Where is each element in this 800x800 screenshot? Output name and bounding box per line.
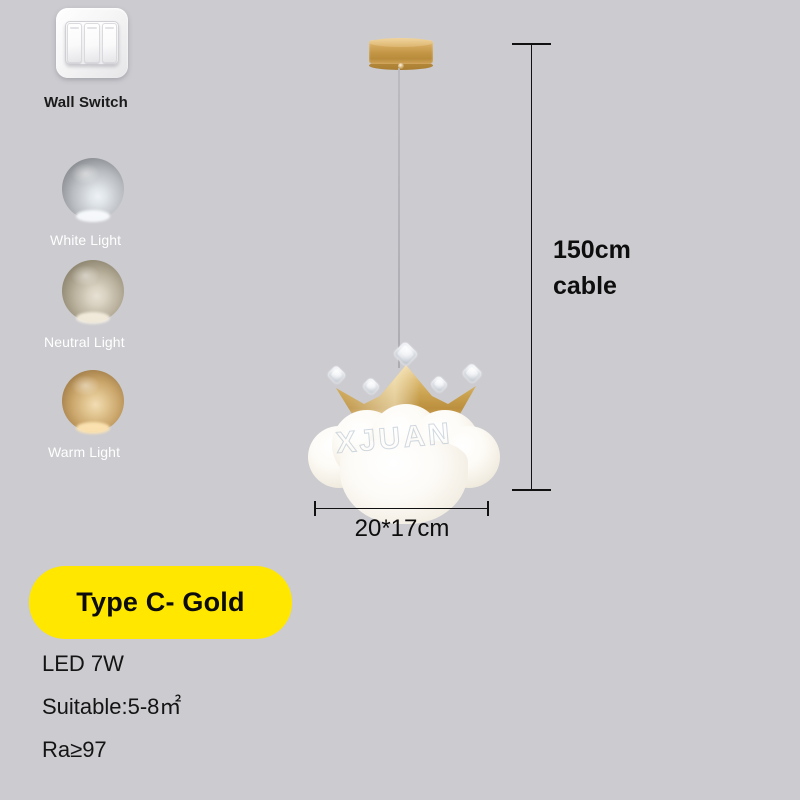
sphere-icon: [62, 370, 124, 432]
sphere-glow: [76, 312, 111, 324]
wall-switch-rocker: [102, 23, 117, 63]
light-color-label-white: White Light: [50, 232, 214, 248]
wall-switch-rocker-panel: [65, 21, 119, 65]
suspension-cable: [398, 68, 400, 368]
cable-dimension-value: 150cm: [553, 233, 703, 269]
spec-line-suitable-area: Suitable:5-8㎡: [42, 696, 372, 718]
wall-switch-rocker: [84, 23, 99, 63]
light-color-option-white: White Light: [44, 158, 214, 248]
cable-dimension-tick-bottom: [512, 489, 551, 491]
wall-switch-rocker: [67, 23, 82, 63]
shade-base: [340, 440, 468, 524]
sphere-icon: [62, 260, 124, 322]
wall-switch-group: Wall Switch: [44, 8, 214, 111]
spec-line-cri: Ra≥97: [42, 739, 372, 761]
ceiling-canopy: [369, 38, 433, 66]
spec-list: LED 7W Suitable:5-8㎡ Ra≥97: [42, 653, 372, 782]
cable-dimension-label: 150cm cable: [553, 233, 703, 304]
canopy-top: [369, 38, 433, 47]
light-color-label-neutral: Neutral Light: [44, 334, 214, 350]
type-badge-label: Type C- Gold: [76, 587, 244, 618]
sphere-glow: [76, 422, 111, 434]
cable-dimension-unit: cable: [553, 269, 703, 305]
light-color-option-neutral: Neutral Light: [44, 260, 214, 350]
spec-line-wattage: LED 7W: [42, 653, 372, 675]
sphere-glow: [76, 210, 111, 222]
shade-dimension-line: [314, 508, 488, 509]
wall-switch-icon: [56, 8, 128, 78]
cable-dimension-line: [531, 44, 532, 490]
canopy-screw: [398, 63, 404, 69]
product-spec-image: Wall Switch White Light Neutral Light Wa…: [0, 0, 800, 800]
type-badge: Type C- Gold: [29, 566, 292, 639]
crown-pendant-lamp: XJUAN: [300, 30, 510, 510]
shade-dimension-tick-right: [487, 501, 489, 516]
sphere-icon: [62, 158, 124, 220]
wall-switch-label: Wall Switch: [44, 94, 214, 111]
light-color-option-warm: Warm Light: [44, 370, 214, 460]
light-color-label-warm: Warm Light: [48, 444, 214, 460]
lamp-shade: [308, 402, 500, 524]
shade-dimension-label: 20*17cm: [314, 515, 490, 543]
